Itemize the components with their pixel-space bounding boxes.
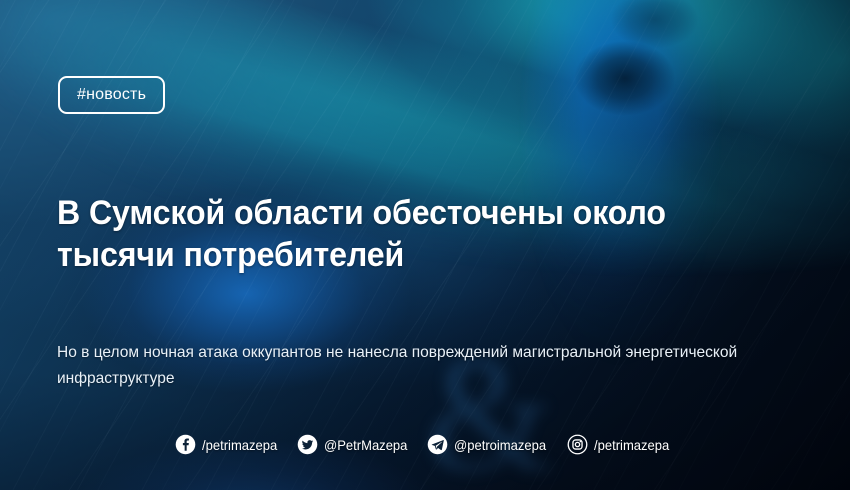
social-link-twitter[interactable]: @PetrMazepa xyxy=(297,434,414,455)
instagram-icon xyxy=(567,434,588,455)
news-card: & #новость В Сумской области обесточены … xyxy=(0,0,850,490)
card-content: #новость В Сумской области обесточены ок… xyxy=(0,0,850,490)
social-link-facebook[interactable]: /petrimazepa xyxy=(175,434,283,455)
telegram-handle: @petroimazepa xyxy=(454,437,546,453)
instagram-handle: /petrimazepa xyxy=(594,437,669,453)
tag-badge[interactable]: #новость xyxy=(58,76,165,114)
social-link-telegram[interactable]: @petroimazepa xyxy=(427,434,553,455)
facebook-icon xyxy=(175,434,196,455)
social-link-instagram[interactable]: /petrimazepa xyxy=(567,434,675,455)
facebook-handle: /petrimazepa xyxy=(202,437,277,453)
social-links-bar: /petrimazepa @PetrMazepa xyxy=(0,434,850,455)
telegram-icon xyxy=(427,434,448,455)
twitter-icon xyxy=(297,434,318,455)
page-title: В Сумской области обесточены около тысяч… xyxy=(57,192,747,276)
tag-badge-label: #новость xyxy=(77,86,146,104)
twitter-handle: @PetrMazepa xyxy=(324,437,407,453)
subtitle-text: Но в целом ночная атака оккупантов не на… xyxy=(57,340,775,392)
